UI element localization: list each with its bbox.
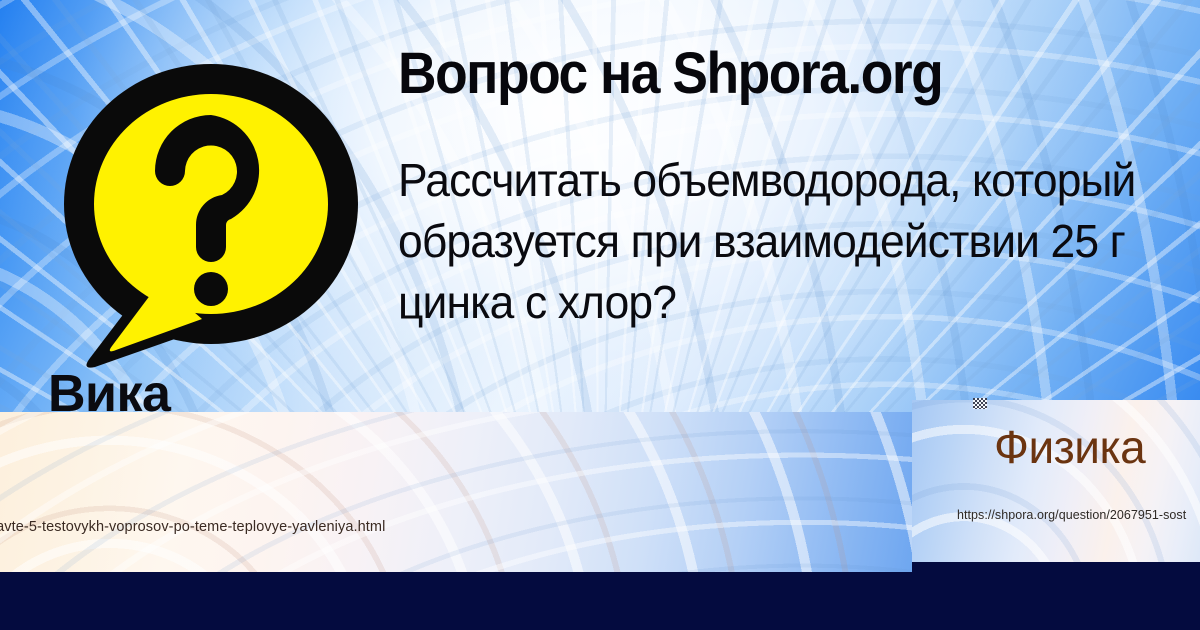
question-text: Рассчитать объемводорода, который образу…: [398, 150, 1137, 334]
footer-bar-right: [912, 562, 1200, 630]
question-speech-bubble-icon: [56, 36, 366, 376]
subject-label: Физика: [994, 424, 1145, 470]
pixel-artifact-icon: [973, 398, 987, 409]
footer-bar-left: [0, 572, 912, 630]
right-card-url[interactable]: https://shpora.org/question/2067951-sost: [957, 508, 1186, 522]
screenshot-stage: Вика Вопрос на Shpora.org Рассчитать объ…: [0, 0, 1200, 630]
left-card-url[interactable]: tavte-5-testovykh-voprosov-po-teme-teplo…: [0, 519, 385, 535]
page-title: Вопрос на Shpora.org: [398, 44, 1116, 104]
